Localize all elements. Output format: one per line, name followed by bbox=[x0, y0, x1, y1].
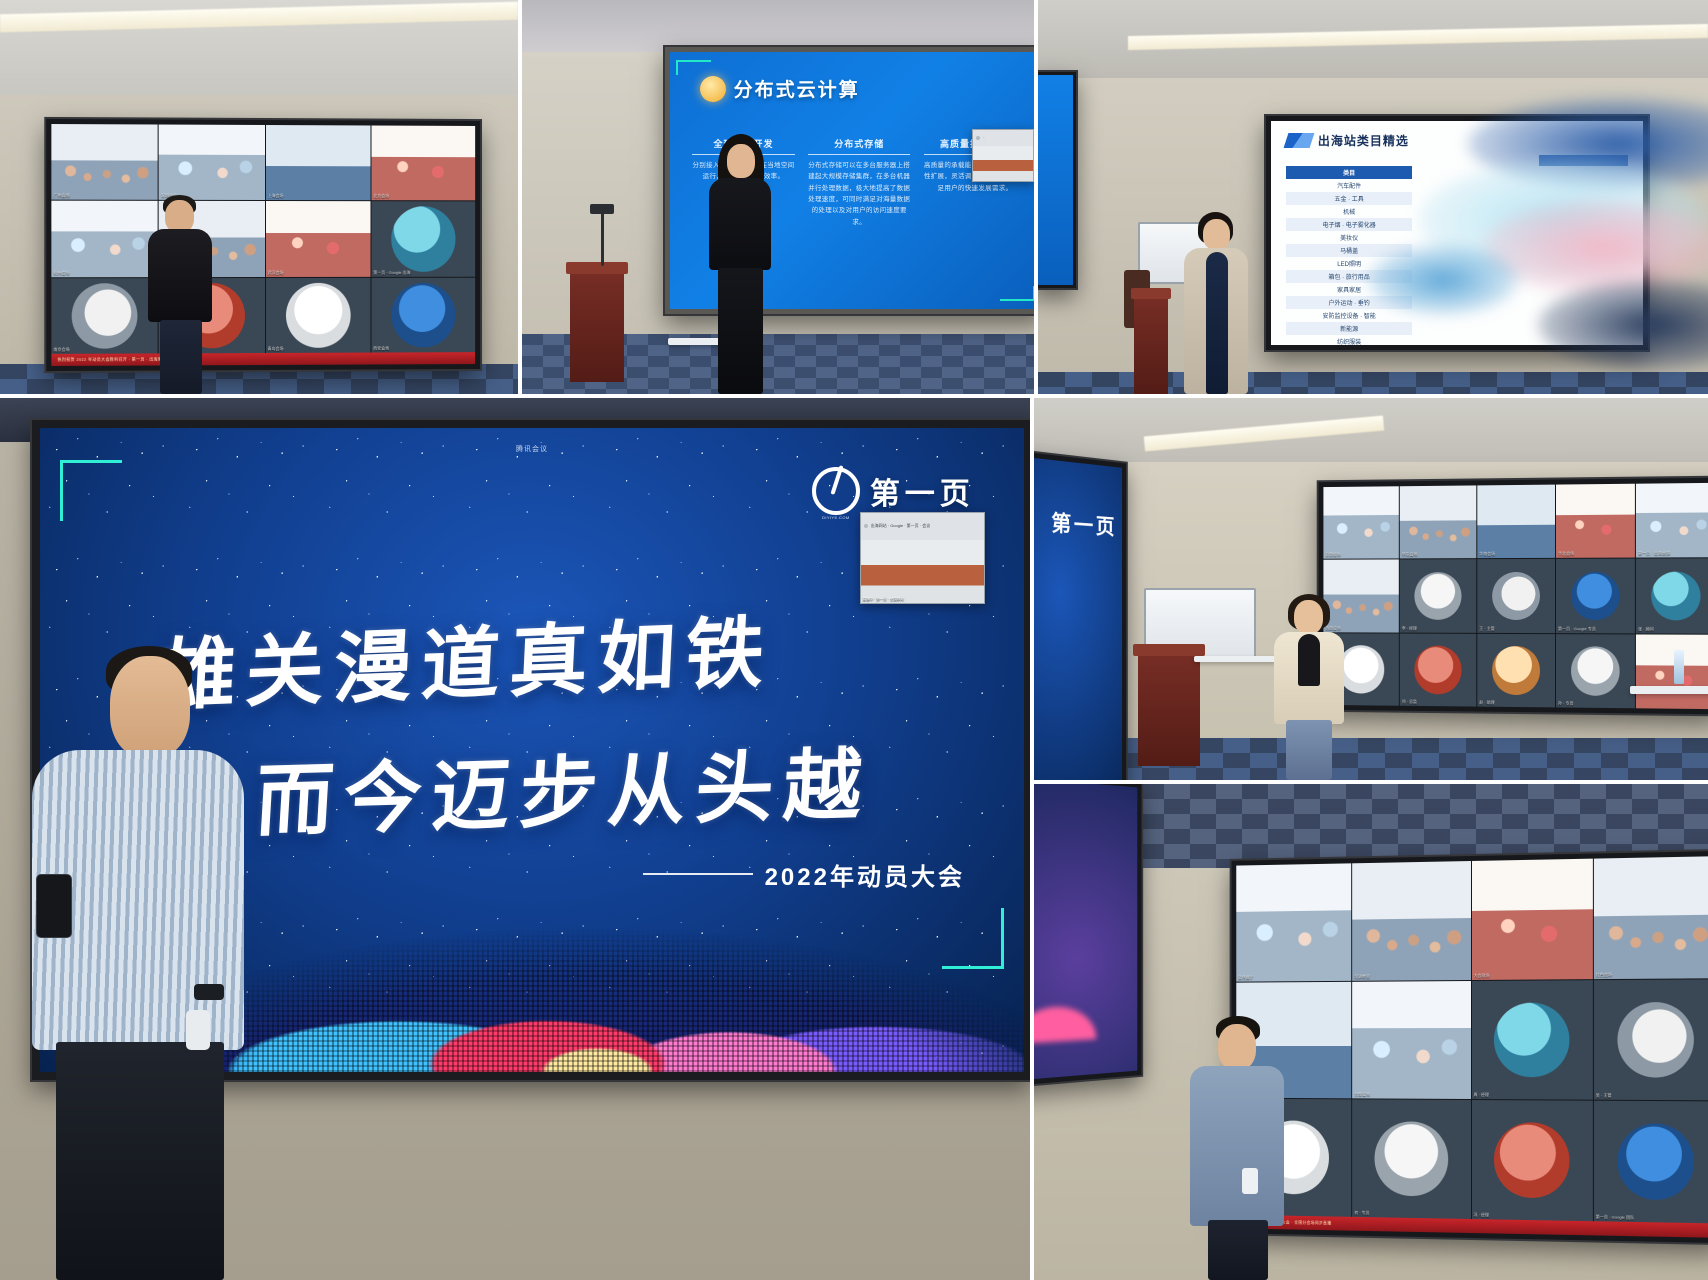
room-scene: 第一页 总部会场 华东会场 华南会场 华北会场 第一页 · 出海营销 西南会场 … bbox=[1034, 398, 1708, 780]
tile-label: 张 · 顾问 bbox=[1638, 626, 1654, 632]
tile-label: 杭州会场 bbox=[53, 270, 69, 276]
table-row[interactable]: 美妆仪 bbox=[1286, 231, 1412, 244]
tile-label: 第一页 · Google 团队 bbox=[1596, 1214, 1635, 1221]
podium bbox=[1134, 288, 1168, 394]
video-tile[interactable]: 赵 · 助理 bbox=[1477, 634, 1555, 708]
tile-label: 华东会场 bbox=[1402, 552, 1418, 558]
slide-header: 分布式云计算 bbox=[700, 75, 860, 102]
adjacent-led-screen: 第一页 bbox=[1034, 443, 1126, 780]
video-tile[interactable]: 武汉会场 bbox=[265, 201, 370, 276]
brand-logo-icon bbox=[1283, 133, 1314, 148]
room-scene: 分布式云计算 全球多地开发 分别接入当地所有站点在当地空间运行，高质量的工作效率… bbox=[522, 0, 1034, 394]
wristwatch bbox=[194, 984, 224, 1000]
participant-avatar bbox=[1651, 571, 1701, 620]
video-tile[interactable]: 华东会场 bbox=[1400, 485, 1477, 558]
head bbox=[1294, 600, 1323, 634]
tile-label: 北京会场 bbox=[373, 194, 389, 200]
tile-label: 周 · 经理 bbox=[1473, 1092, 1489, 1098]
inset-content: 直播中 · 第一页 · 全国联动 bbox=[861, 540, 984, 603]
video-tile[interactable]: 红色会场 bbox=[1594, 856, 1708, 979]
watercolor-brush-overlay bbox=[1368, 245, 1518, 315]
inset-caption: 直播中 · 第一页 · 全国联动 bbox=[863, 597, 904, 602]
table-row[interactable]: 新能源 bbox=[1286, 322, 1412, 335]
panel-bottom-right[interactable]: 蓝色展厅 培训教室 大会现场 红色会场 第一页 · 会议室 分部会场 周 · 经… bbox=[1034, 784, 1708, 1280]
corner-accent bbox=[60, 460, 122, 521]
video-tile[interactable]: 何 · 专员 bbox=[1352, 1100, 1470, 1219]
table-row[interactable]: 五金 · 工具 bbox=[1286, 192, 1412, 205]
room-scene: 出海站类目精选 类目 汽车配件 五金 · 工具 机械 电子烟 · 电子雾化器 美… bbox=[1038, 0, 1708, 394]
video-tile[interactable]: 第一页 · Google 团队 bbox=[1594, 1101, 1708, 1223]
brand-caption: DIYIYE.COM bbox=[822, 515, 850, 520]
video-conference-grid[interactable]: 总部会场 华东会场 华南会场 华北会场 第一页 · 出海营销 西南会场 李 · … bbox=[1323, 483, 1708, 709]
video-tile[interactable]: 冯 · 经理 bbox=[1471, 1100, 1592, 1221]
tile-label: 王 · 主管 bbox=[1479, 626, 1494, 632]
video-tile[interactable]: 第一页 · Google 专员 bbox=[1556, 559, 1635, 633]
dot-icon bbox=[864, 524, 868, 528]
inset-titlebar: · bbox=[973, 130, 1032, 145]
room-scene: 广州会场 深圳会场 上海会场 北京会场 杭州会场 成都会场 武汉会场 第一页 ·… bbox=[0, 0, 518, 394]
legs bbox=[718, 268, 763, 394]
tile-label: 大会现场 bbox=[1473, 973, 1489, 979]
collage-gutter bbox=[1034, 780, 1708, 784]
video-tile[interactable]: 分部会场 bbox=[1352, 981, 1470, 1100]
collage-gutter bbox=[1030, 398, 1034, 1280]
column-body: 分布式存储可以在多台服务器上搭建起大规模存储集群，在多台机器并行处理数据，极大地… bbox=[808, 160, 910, 228]
participant-avatar bbox=[1617, 1002, 1694, 1078]
inset-titlebar: 出海网站 · Google · 第一页 · 会议 bbox=[861, 513, 984, 540]
collage-gutter bbox=[0, 394, 1708, 398]
trousers bbox=[56, 1042, 224, 1280]
video-tile[interactable]: 广州会场 bbox=[51, 124, 157, 200]
tile-label: 华北会场 bbox=[1558, 551, 1574, 557]
participant-avatar bbox=[1494, 1002, 1569, 1077]
presenter-female-3 bbox=[1266, 594, 1352, 780]
room-scene: 蓝色展厅 培训教室 大会现场 红色会场 第一页 · 会议室 分部会场 周 · 经… bbox=[1034, 784, 1708, 1280]
event-ticker-banner: 热烈祝贺 2022 年动员大会胜利召开 · 第一页 · 出海营销 · 全球站点 bbox=[51, 352, 475, 366]
tile-label: 第一页 · Google 专员 bbox=[1558, 626, 1596, 632]
tile-label: 华南会场 bbox=[1479, 551, 1495, 557]
inset-content bbox=[973, 146, 1032, 182]
participant-avatar bbox=[1571, 572, 1620, 621]
tile-label: 孙 · 专员 bbox=[1558, 700, 1574, 706]
brand-logo-icon: DIYIYE.COM bbox=[812, 467, 860, 515]
video-tile[interactable]: 上海会场 bbox=[265, 125, 370, 201]
adjacent-led-screen bbox=[1034, 784, 1141, 1094]
presenter-female-1 bbox=[702, 134, 778, 394]
video-conference-grid[interactable]: 蓝色展厅 培训教室 大会现场 红色会场 第一页 · 会议室 分部会场 周 · 经… bbox=[1236, 856, 1708, 1223]
tile-label: 吴 · 主管 bbox=[1596, 1093, 1612, 1099]
presenter-clicker bbox=[186, 1010, 210, 1050]
led-screen[interactable]: 总部会场 华东会场 华南会场 华北会场 第一页 · 出海营销 西南会场 李 · … bbox=[1319, 478, 1708, 715]
tile-label: 青岛会场 bbox=[267, 346, 283, 352]
participant-avatar bbox=[1492, 646, 1540, 695]
led-screen[interactable]: 蓝色展厅 培训教室 大会现场 红色会场 第一页 · 会议室 分部会场 周 · 经… bbox=[1232, 851, 1708, 1243]
tile-label: 何 · 专员 bbox=[1354, 1210, 1369, 1216]
panel-top-left[interactable]: 广州会场 深圳会场 上海会场 北京会场 杭州会场 成都会场 武汉会场 第一页 ·… bbox=[0, 0, 518, 394]
podium bbox=[1138, 644, 1200, 766]
participant-avatar bbox=[1617, 1124, 1694, 1201]
video-tile[interactable] bbox=[1636, 634, 1708, 709]
head bbox=[110, 656, 190, 758]
slide-inset-window: 出海网站 · Google · 第一页 · 会议 直播中 · 第一页 · 全国联… bbox=[860, 512, 985, 604]
corner-accent bbox=[1000, 286, 1034, 301]
participant-avatar bbox=[1375, 1122, 1448, 1197]
head bbox=[1218, 1024, 1256, 1070]
brand-name: 第一页 bbox=[870, 469, 975, 513]
video-tile[interactable]: 刘 · 总监 bbox=[1400, 633, 1477, 706]
head bbox=[727, 144, 755, 178]
inner-top bbox=[1298, 634, 1320, 686]
video-tile[interactable]: 蓝色展厅 bbox=[1236, 863, 1351, 981]
column-heading: 分布式存储 bbox=[808, 137, 910, 155]
trousers bbox=[1208, 1220, 1268, 1280]
led-screen[interactable]: 广州会场 深圳会场 上海会场 北京会场 杭州会场 成都会场 武汉会场 第一页 ·… bbox=[46, 119, 480, 371]
presenter-male-2 bbox=[18, 646, 253, 1280]
video-tile[interactable]: 西安会场 bbox=[371, 277, 475, 352]
video-tile[interactable]: 大会现场 bbox=[1471, 859, 1592, 980]
collage-gutter bbox=[518, 0, 522, 398]
tile-label: 赵 · 助理 bbox=[1479, 700, 1494, 706]
slide-title: 分布式云计算 bbox=[734, 75, 860, 102]
tile-label: 第一页 · Google 出海 bbox=[373, 270, 410, 276]
torso bbox=[709, 178, 771, 270]
torso bbox=[148, 229, 212, 322]
table-row[interactable]: 纺织服装 bbox=[1286, 335, 1412, 345]
participant-avatar bbox=[391, 282, 455, 347]
table-row[interactable]: 汽车配件 bbox=[1286, 179, 1412, 192]
video-tile[interactable]: 孙 · 专员 bbox=[1556, 634, 1635, 708]
adjacent-led-screen bbox=[1038, 72, 1076, 288]
dot-icon bbox=[976, 136, 980, 140]
video-conference-grid[interactable]: 广州会场 深圳会场 上海会场 北京会场 杭州会场 成都会场 武汉会场 第一页 ·… bbox=[51, 124, 475, 354]
presenter-male-3 bbox=[1184, 1016, 1288, 1280]
meeting-watermark: 腾讯会议 bbox=[516, 444, 548, 454]
video-tile[interactable]: 周 · 经理 bbox=[1471, 980, 1592, 1100]
presenter-male-1 bbox=[140, 195, 220, 394]
video-tile[interactable]: 深圳会场 bbox=[159, 125, 265, 201]
tile-label: 李 · 经理 bbox=[1402, 625, 1417, 631]
tile-label: 第一页 · 出海营销 bbox=[1638, 551, 1670, 557]
table-row[interactable]: 电子烟 · 电子雾化器 bbox=[1286, 218, 1412, 231]
mountain-visualization bbox=[217, 879, 1024, 1072]
slide-header: 出海站类目精选 bbox=[1286, 132, 1409, 149]
participant-avatar bbox=[1571, 646, 1620, 695]
video-tile[interactable]: 培训教室 bbox=[1352, 861, 1470, 980]
corner-accent bbox=[676, 60, 711, 75]
participant-avatar bbox=[1414, 572, 1461, 620]
video-tile[interactable]: 张 · 顾问 bbox=[1636, 559, 1708, 634]
inset-title: · bbox=[983, 135, 984, 140]
video-tile[interactable]: 北京会场 bbox=[371, 125, 475, 200]
video-tile[interactable]: 总部会场 bbox=[1323, 486, 1398, 559]
inset-title: 出海网站 · Google · 第一页 · 会议 bbox=[871, 523, 931, 529]
tile-label: 刘 · 总监 bbox=[1402, 699, 1417, 705]
slide-inset-window: · bbox=[972, 129, 1033, 182]
tile-label: 上海会场 bbox=[267, 193, 283, 199]
video-tile[interactable]: 华南会场 bbox=[1477, 485, 1555, 559]
collage-gutter bbox=[1034, 0, 1038, 398]
participant-avatar bbox=[285, 283, 350, 348]
video-tile[interactable]: 李 · 经理 bbox=[1400, 559, 1477, 632]
side-table bbox=[1194, 656, 1276, 662]
participant-avatar bbox=[1492, 572, 1540, 620]
smartphone bbox=[36, 874, 72, 938]
jeans bbox=[1286, 720, 1332, 780]
slide-title: 出海站类目精选 bbox=[1318, 132, 1409, 149]
ceiling bbox=[522, 0, 1034, 52]
table-row[interactable]: 安防监控设备 · 智能 bbox=[1286, 309, 1412, 322]
room-scene: 腾讯会议 DIYIYE.COM 第一页 雄关漫道真如铁 而今迈步从头越 2022… bbox=[0, 398, 1030, 1280]
divider bbox=[643, 873, 753, 875]
sun-icon bbox=[700, 76, 726, 102]
photo-collage: 广州会场 深圳会场 上海会场 北京会场 杭州会场 成都会场 武汉会场 第一页 ·… bbox=[0, 0, 1708, 1280]
head bbox=[1203, 219, 1230, 250]
equipment-table bbox=[1630, 686, 1708, 694]
participant-avatar bbox=[391, 207, 455, 272]
video-tile[interactable]: 华北会场 bbox=[1556, 484, 1635, 558]
table-header-row: 类目 bbox=[1286, 166, 1412, 179]
video-tile[interactable]: 吴 · 主管 bbox=[1594, 979, 1708, 1101]
video-tile[interactable]: 第一页 · 出海营销 bbox=[1636, 483, 1708, 558]
tile-label: 培训教室 bbox=[1354, 973, 1370, 979]
water-bottle bbox=[1674, 650, 1684, 684]
presenter-clicker bbox=[1242, 1168, 1258, 1194]
mic-stand bbox=[601, 212, 604, 266]
tile-label: 西安会场 bbox=[373, 346, 389, 352]
panel-top-right[interactable]: 出海站类目精选 类目 汽车配件 五金 · 工具 机械 电子烟 · 电子雾化器 美… bbox=[1038, 0, 1708, 394]
participant-avatar bbox=[1494, 1123, 1569, 1199]
headline-line-2: 而今迈步从头越 bbox=[253, 722, 875, 851]
panel-top-center[interactable]: 分布式云计算 全球多地开发 分别接入当地所有站点在当地空间运行，高质量的工作效率… bbox=[522, 0, 1034, 394]
panel-main[interactable]: 腾讯会议 DIYIYE.COM 第一页 雄关漫道真如铁 而今迈步从头越 2022… bbox=[0, 398, 1030, 1280]
brand-name-echo: 第一页 bbox=[1051, 506, 1117, 542]
tile-label: 冯 · 经理 bbox=[1473, 1212, 1489, 1218]
participant-avatar bbox=[72, 283, 138, 349]
table-row[interactable]: 机械 bbox=[1286, 205, 1412, 218]
podium bbox=[570, 262, 624, 382]
tile-label: 蓝色展厅 bbox=[1238, 974, 1253, 980]
floor bbox=[1034, 738, 1708, 780]
brand-lockup: DIYIYE.COM 第一页 bbox=[812, 467, 975, 515]
slide-column: 分布式存储 分布式存储可以在多台服务器上搭建起大规模存储集群，在多台机器并行处理… bbox=[808, 137, 910, 228]
tile-label: 总部会场 bbox=[1325, 552, 1340, 558]
tile-label: 红色会场 bbox=[1596, 972, 1612, 978]
panel-mid-right[interactable]: 第一页 总部会场 华东会场 华南会场 华北会场 第一页 · 出海营销 西南会场 … bbox=[1034, 398, 1708, 780]
tile-label: 武汉会场 bbox=[267, 270, 283, 276]
tile-label: 南京会场 bbox=[53, 347, 69, 353]
tile-label: 广州会场 bbox=[53, 193, 69, 199]
tile-label: 分部会场 bbox=[1354, 1092, 1370, 1098]
shirt bbox=[1190, 1066, 1284, 1226]
participant-avatar bbox=[1414, 646, 1461, 694]
presenter-female-2 bbox=[1180, 212, 1252, 394]
video-tile[interactable]: 王 · 主管 bbox=[1477, 559, 1555, 633]
inner-dress bbox=[1206, 252, 1228, 394]
video-tile[interactable]: 第一页 · Google 出海 bbox=[371, 202, 475, 277]
video-tile[interactable]: 青岛会场 bbox=[265, 278, 370, 353]
legs bbox=[160, 320, 202, 394]
